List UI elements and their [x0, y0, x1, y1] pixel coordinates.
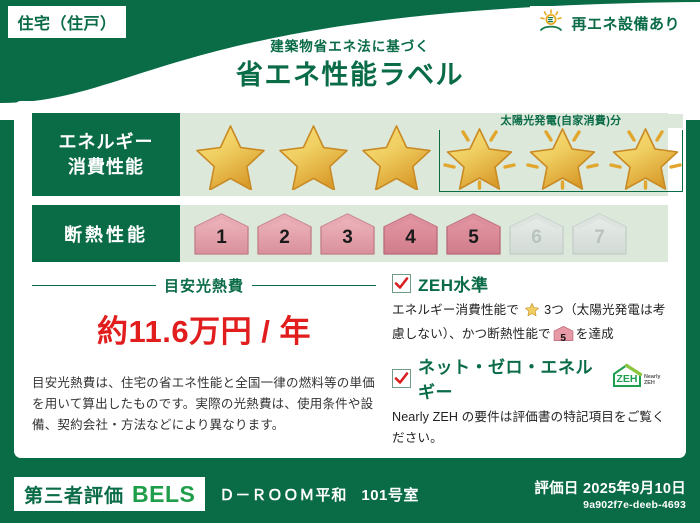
evaluation-date: 評価日 2025年9月10日 [534, 477, 686, 498]
insulation-level-value: 6 [507, 227, 566, 249]
check-head: ネット・ゼロ・エネルギー ZEH Nearly ZEH [392, 353, 668, 403]
star-icon-solar [439, 120, 520, 190]
checkbox-zeh-level[interactable] [392, 274, 411, 293]
svg-text:ZEH: ZEH [644, 380, 655, 386]
star-icon-solar [522, 120, 603, 190]
bels-en-label: BELS [132, 481, 195, 508]
check-item-net-zero-energy: ネット・ゼロ・エネルギー ZEH Nearly ZEH Nearly ZEH の… [392, 353, 668, 449]
insulation-level-badge: 1 [192, 212, 251, 256]
insulation-level-badge-inactive: 7 [570, 212, 629, 256]
main-content-panel: エネルギー 消費性能 太陽光発電(自家消費)分 [14, 101, 686, 458]
energy-stars-area: 太陽光発電(自家消費)分 [180, 113, 668, 196]
check-title-net-zero-energy: ネット・ゼロ・エネルギー [418, 353, 599, 403]
check-body-part1: エネルギー消費性能で [392, 303, 519, 317]
bels-energy-label: 住宅（住戸） 再エネ設備あり 建築物省エネ法に基づく 省エネ性能ラベル [0, 0, 700, 523]
insulation-level-scale: 1 2 3 [180, 212, 668, 256]
building-name: Ｄ－ＲＯＯＭ平和 [219, 484, 347, 505]
energy-cost-title: 目安光熱費 [164, 275, 244, 296]
insulation-performance-row: 断熱性能 [32, 205, 668, 262]
room-number: 101号室 [361, 484, 419, 505]
energy-cost-section: 目安光熱費 約11.6万円 / 年 目安光熱費は、住宅の省エネ性能と全国一律の燃… [32, 271, 384, 446]
star-icon [356, 120, 437, 190]
svg-text:ZEH: ZEH [617, 373, 638, 385]
insulation-level-value: 7 [570, 227, 629, 249]
rule-right [252, 285, 376, 287]
star-icon [520, 306, 543, 320]
energy-performance-label: エネルギー 消費性能 [32, 113, 180, 196]
rule-left [32, 285, 156, 287]
insulation-level-badge-inactive: 6 [507, 212, 566, 256]
header-subtitle: 建築物省エネ法に基づく [0, 38, 700, 56]
energy-cost-header: 目安光熱費 [32, 275, 376, 296]
insulation-performance-label: 断熱性能 [32, 205, 180, 262]
evaluation-id: 9a902f7e-deeb-4693 [534, 499, 686, 511]
renewable-equipment-label: 再エネ設備あり [571, 13, 680, 34]
bels-certification-mark: 第三者評価 BELS [14, 477, 205, 511]
star-icon-solar [605, 120, 686, 190]
insulation-level-badge: 3 [318, 212, 377, 256]
check-icon [394, 276, 409, 291]
energy-performance-row: エネルギー 消費性能 太陽光発電(自家消費)分 [32, 113, 668, 196]
label-header: 建築物省エネ法に基づく 省エネ性能ラベル [0, 38, 700, 93]
insulation-level-badge: 4 [381, 212, 440, 256]
insulation-level-value: 3 [318, 227, 377, 249]
checkbox-net-zero-energy[interactable] [392, 369, 411, 388]
energy-cost-note: 目安光熱費は、住宅の省エネ性能と全国一律の燃料等の単価を用いて算出したものです。… [32, 373, 376, 436]
zeh-house-logo: ZEH Nearly ZEH [610, 362, 668, 395]
insulation-level-value: 5 [444, 227, 503, 249]
insulation-level-value: 2 [255, 227, 314, 249]
check-item-zeh-level: ZEH水準 エネルギー消費性能で 3つ（太陽光発電は考慮しない）、かつ断熱性能で… [392, 271, 668, 345]
check-body-zeh-level: エネルギー消費性能で 3つ（太陽光発電は考慮しない）、かつ断熱性能で 5 を達成 [392, 300, 668, 345]
renewable-equipment-badge: 再エネ設備あり [530, 6, 692, 40]
certification-checks: ZEH水準 エネルギー消費性能で 3つ（太陽光発電は考慮しない）、かつ断熱性能で… [384, 271, 668, 446]
insulation-level-value: 4 [381, 227, 440, 249]
check-body-net-zero-energy: Nearly ZEH の要件は評価書の特記項目をご覧ください。 [392, 407, 668, 449]
insulation-level-value: 1 [192, 227, 251, 249]
insulation-level-badge-achieved: 5 [444, 212, 503, 256]
energy-cost-value: 約11.6万円 / 年 [32, 306, 376, 351]
evaluation-info: 評価日 2025年9月10日 9a902f7e-deeb-4693 [534, 477, 686, 511]
star-icon [273, 120, 354, 190]
bels-jp-label: 第三者評価 [24, 481, 124, 508]
inline-level-value: 5 [553, 328, 574, 349]
check-head: ZEH水準 [392, 271, 668, 296]
star-icon [190, 120, 271, 190]
check-icon [394, 371, 409, 386]
check-body-part3: を達成 [576, 327, 614, 341]
housing-type-tag: 住宅（住戸） [8, 6, 126, 38]
insulation-level-badge-inline: 5 [553, 325, 574, 342]
housing-type-label: 住宅（住戸） [17, 10, 116, 34]
check-title-zeh-level: ZEH水準 [418, 271, 489, 296]
label-footer: 第三者評価 BELS Ｄ－ＲＯＯＭ平和 101号室 評価日 2025年9月10日… [0, 465, 700, 523]
lower-content: 目安光熱費 約11.6万円 / 年 目安光熱費は、住宅の省エネ性能と全国一律の燃… [32, 271, 668, 446]
solar-sun-icon [538, 9, 564, 38]
insulation-level-badge: 2 [255, 212, 314, 256]
energy-star-rating [190, 120, 686, 190]
page-title: 省エネ性能ラベル [0, 57, 700, 93]
